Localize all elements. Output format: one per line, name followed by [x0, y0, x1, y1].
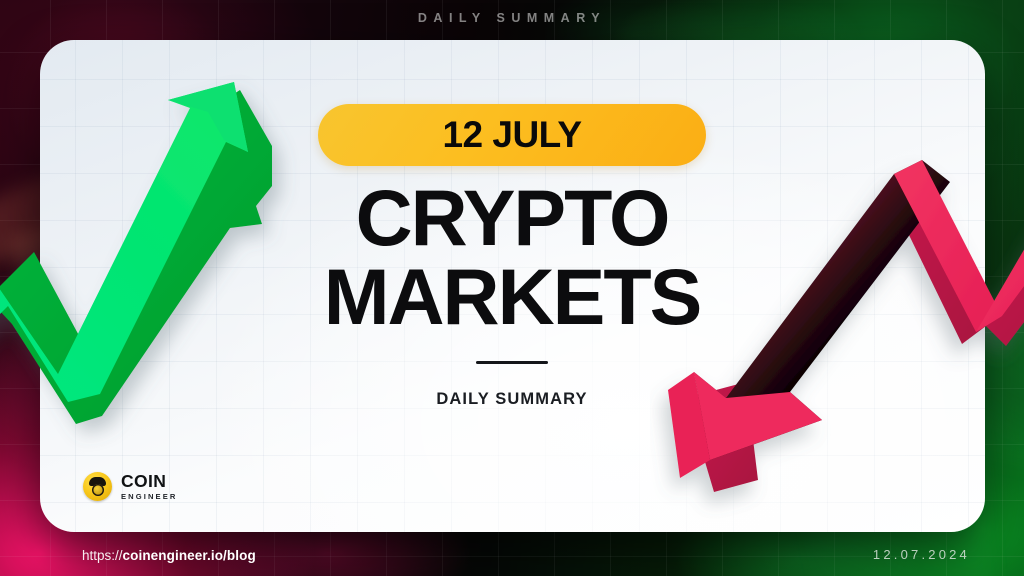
footer-url-protocol: https:// — [82, 548, 123, 563]
banner-label: DAILY SUMMARY — [0, 11, 1024, 25]
brand-logo[interactable]: COIN ENGINEER — [83, 472, 177, 501]
footer-url-domain: coinengineer.io/blog — [123, 548, 256, 563]
brand-logo-text: COIN ENGINEER — [121, 473, 177, 501]
date-pill-badge[interactable]: 12 JULY — [318, 104, 706, 166]
title-divider — [476, 361, 548, 364]
coin-engineer-badge-icon — [83, 472, 112, 501]
title-line-2: MARKETS — [324, 261, 701, 334]
title-line-1: CRYPTO — [324, 182, 701, 255]
brand-name-top: COIN — [121, 473, 177, 491]
footer-url[interactable]: https://coinengineer.io/blog — [82, 548, 256, 563]
page-title: CRYPTO MARKETS — [324, 182, 701, 333]
date-pill-label: 12 JULY — [442, 114, 581, 156]
brand-name-bottom: ENGINEER — [121, 493, 177, 501]
footer-date: 12.07.2024 — [873, 547, 970, 562]
subtitle: DAILY SUMMARY — [436, 390, 587, 409]
